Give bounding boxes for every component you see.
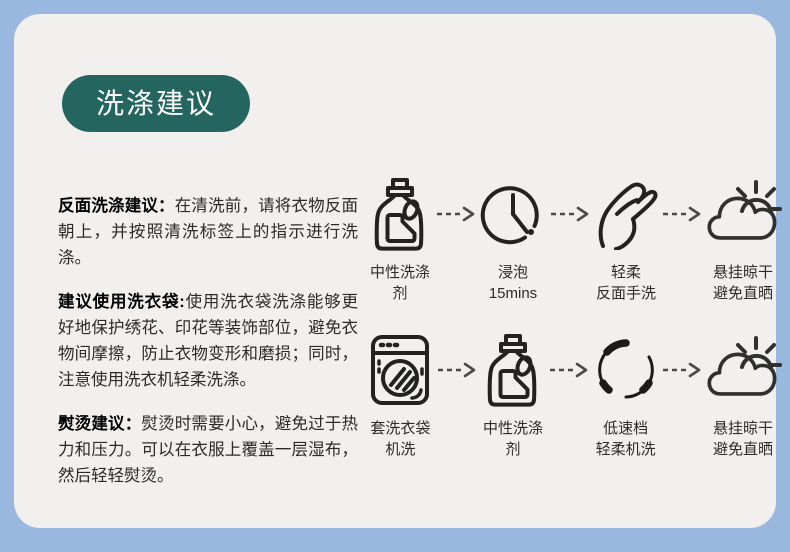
- instruction-paragraph: 熨烫建议：熨烫时需要小心，避免过于热力和压力。可以在衣服上覆盖一层湿布，然后轻轻…: [58, 411, 358, 489]
- instruction-card: 洗涤建议 反面洗涤建议：在清洗前，请将衣物反面朝上，并按照清洗标签上的指示进行洗…: [14, 14, 776, 528]
- sun-behind-cloud-icon: [704, 330, 782, 410]
- dashed-arrow-icon: [547, 330, 591, 410]
- icon-step: 悬挂晾干 避免直晒: [704, 174, 782, 304]
- icon-step: 中性洗涤剂: [366, 174, 434, 304]
- dashed-arrow-icon: [434, 174, 478, 254]
- instruction-lead: 反面洗涤建议：: [58, 197, 175, 215]
- icon-step: 套洗衣袋 机洗: [366, 330, 435, 460]
- dashed-arrow-icon: [660, 174, 704, 254]
- detergent-bottle-icon: [371, 174, 429, 254]
- washing-machine-icon: [366, 330, 434, 410]
- rotation-low-speed-icon: [593, 330, 659, 410]
- instruction-paragraph: 建议使用洗衣袋:使用洗衣袋洗涤能够更好地保护绣花、印花等装饰部位，避免衣物间摩擦…: [58, 289, 358, 393]
- icon-step: 中性洗涤剂: [479, 330, 548, 460]
- icon-step: 低速档 轻柔机洗: [591, 330, 660, 460]
- icon-label: 浸泡 15mins: [489, 262, 537, 304]
- icon-row-machine-wash: 套洗衣袋 机洗: [366, 330, 782, 460]
- icon-label: 悬挂晾干 避免直晒: [713, 262, 773, 304]
- instructions-column: 反面洗涤建议：在清洗前，请将衣物反面朝上，并按照清洗标签上的指示进行洗涤。 建议…: [58, 176, 358, 507]
- icon-label: 套洗衣袋 机洗: [370, 418, 430, 460]
- dashed-arrow-icon: [548, 174, 592, 254]
- icon-step: 悬挂晾干 避免直晒: [704, 330, 782, 460]
- instruction-lead: 熨烫建议：: [58, 415, 141, 433]
- icon-label: 悬挂晾干 避免直晒: [713, 418, 773, 460]
- dashed-arrow-icon: [660, 330, 704, 410]
- icon-flow-area: 中性洗涤剂: [366, 174, 782, 486]
- icon-label: 中性洗涤剂: [479, 418, 548, 460]
- hand-icon: [593, 174, 659, 254]
- icon-step: 浸泡 15mins: [478, 174, 548, 304]
- page-title: 洗涤建议: [96, 90, 216, 118]
- icon-label: 中性洗涤剂: [366, 262, 434, 304]
- icon-label: 低速档 轻柔机洗: [596, 418, 656, 460]
- page-title-badge: 洗涤建议: [62, 75, 250, 132]
- clock-icon: [478, 174, 548, 254]
- sun-behind-cloud-icon: [704, 174, 782, 254]
- instruction-lead: 建议使用洗衣袋:: [58, 293, 185, 311]
- detergent-bottle-icon: [484, 330, 542, 410]
- icon-step: 轻柔 反面手洗: [592, 174, 660, 304]
- icon-row-hand-wash: 中性洗涤剂: [366, 174, 782, 304]
- dashed-arrow-icon: [435, 330, 479, 410]
- instruction-paragraph: 反面洗涤建议：在清洗前，请将衣物反面朝上，并按照清洗标签上的指示进行洗涤。: [58, 193, 358, 271]
- icon-label: 轻柔 反面手洗: [596, 262, 656, 304]
